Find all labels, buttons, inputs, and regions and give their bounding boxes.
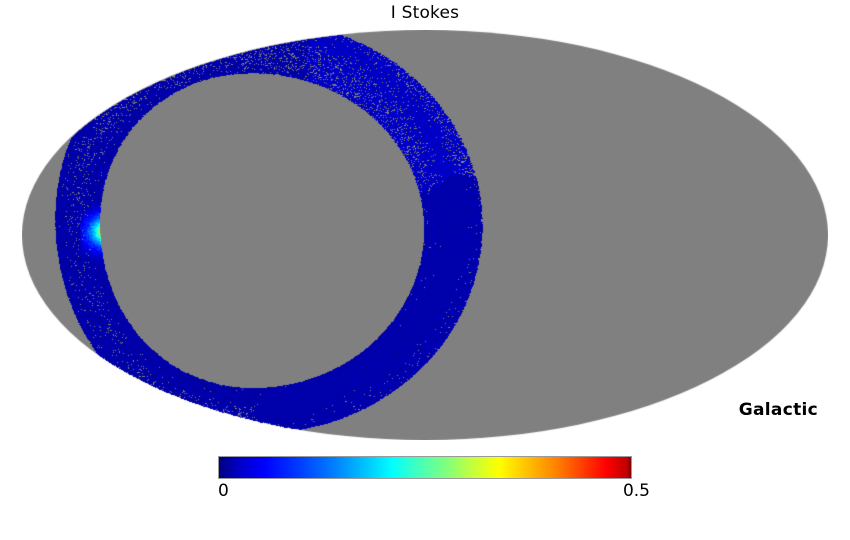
page-title: I Stokes — [0, 3, 850, 23]
sky-map-projection — [22, 30, 828, 440]
mollweide-sky-map — [22, 30, 828, 440]
colorbar-max-tick: 0.5 — [623, 481, 650, 501]
colorbar-gradient — [218, 456, 632, 479]
colorbar-tick-labels: 0 0.5 — [218, 481, 632, 503]
colorbar: 0 0.5 — [218, 456, 632, 502]
figure-canvas: I Stokes Galactic 0 0.5 — [0, 0, 850, 540]
coordinate-system-label: Galactic — [739, 400, 818, 420]
colorbar-min-tick: 0 — [218, 481, 229, 501]
